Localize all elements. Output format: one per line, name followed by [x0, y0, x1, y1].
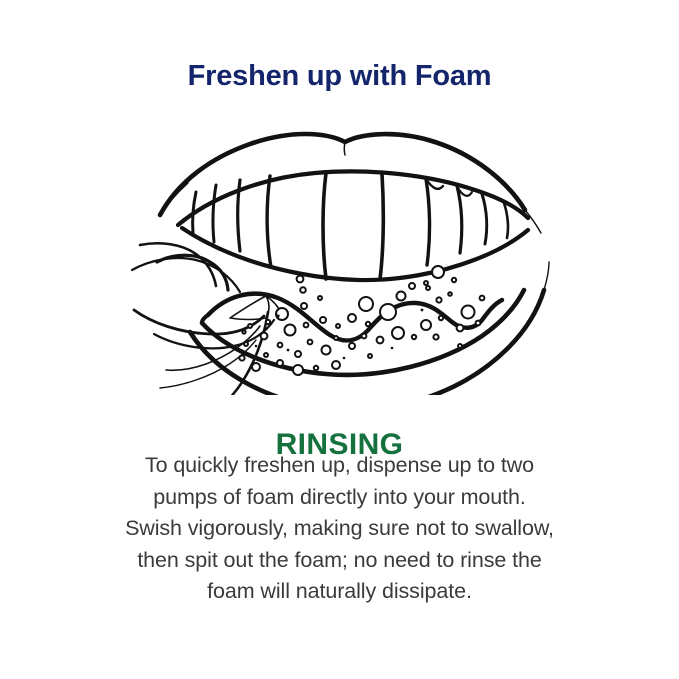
bubble: [285, 325, 296, 336]
bubble: [480, 296, 485, 301]
bubble: [392, 327, 404, 339]
bubble: [457, 325, 464, 332]
bubble-dot: [276, 314, 279, 317]
bubble: [248, 324, 252, 328]
instruction-line: Swish vigorously, making sure not to swa…: [60, 513, 619, 545]
tooth-divider-5-central: [323, 173, 326, 279]
bubble: [252, 363, 260, 371]
bubble: [426, 286, 430, 290]
lip-corner-outer: [140, 243, 216, 286]
tooth-divider-7: [426, 179, 430, 265]
bubble: [301, 303, 307, 309]
instruction-line: then spit out the foam; no need to rinse…: [60, 545, 619, 577]
bubble: [297, 276, 304, 283]
bubble: [332, 361, 340, 369]
bubble: [366, 322, 370, 326]
bubble: [300, 287, 306, 293]
bubble: [264, 353, 268, 357]
mouth-inner-left-edge: [202, 315, 208, 323]
bubble: [261, 333, 268, 340]
upper-lip-left-taper: [160, 183, 188, 215]
bubble: [242, 330, 245, 333]
tooth-divider-10: [504, 203, 508, 238]
bubble: [278, 343, 283, 348]
bubble: [349, 343, 355, 349]
instruction-paragraph: To quickly freshen up, dispense up to tw…: [60, 450, 619, 608]
upper-gum-line: [178, 171, 528, 225]
upper-teeth-arch: [182, 228, 528, 280]
bubble: [368, 354, 372, 358]
bubble-dot: [287, 349, 290, 352]
bubble: [458, 344, 462, 348]
bubble: [293, 365, 303, 375]
lip-corner-crease-1: [208, 312, 268, 395]
bubble-dot: [421, 309, 424, 312]
bubble: [334, 336, 338, 340]
bubble: [336, 324, 340, 328]
tooth-divider-6: [380, 174, 383, 279]
instruction-line: To quickly freshen up, dispense up to tw…: [60, 450, 619, 482]
bubble: [421, 320, 431, 330]
bubble: [266, 320, 270, 324]
tooth-divider-4: [267, 176, 271, 267]
tooth-divider-8: [457, 186, 462, 253]
tooth-divider-3: [238, 180, 240, 251]
bubble: [380, 304, 396, 320]
bubble: [452, 278, 456, 282]
instruction-card: Freshen up with Foam: [0, 0, 679, 679]
bubble: [377, 337, 384, 344]
bubble-dot: [255, 345, 258, 348]
bubble: [362, 334, 367, 339]
bubble: [439, 316, 443, 320]
instruction-line: pumps of foam directly into your mouth.: [60, 482, 619, 514]
bubble: [304, 323, 309, 328]
tooth-divider-9: [482, 194, 487, 244]
bubble: [320, 317, 326, 323]
bubble: [432, 266, 444, 278]
mouth-rinsing-foam-illustration: [130, 120, 550, 395]
bubble: [424, 281, 428, 285]
bubble: [397, 292, 406, 301]
bubble: [436, 297, 441, 302]
lip-corner-inner-bulge: [157, 255, 228, 290]
bubble: [244, 342, 248, 346]
bubble: [318, 296, 322, 300]
mouth-illustration-svg: [130, 120, 550, 395]
bubble: [359, 297, 373, 311]
bubble: [409, 283, 415, 289]
tooth-divider-2: [213, 185, 216, 242]
instruction-line: foam will naturally dissipate.: [60, 576, 619, 608]
bubble: [276, 308, 288, 320]
bubble: [412, 335, 416, 339]
bubble: [308, 340, 313, 345]
cupids-bow-notch: [344, 142, 345, 155]
lower-lip-right-taper: [544, 262, 549, 290]
bubble: [462, 306, 475, 319]
bubble: [448, 292, 452, 296]
bubble-dot: [343, 357, 346, 360]
bubble: [433, 334, 438, 339]
bubble: [239, 355, 244, 360]
bubble: [322, 346, 331, 355]
bubble: [314, 366, 318, 370]
bubble: [277, 360, 283, 366]
bubble-dot: [391, 347, 394, 350]
bubble: [476, 321, 481, 326]
bubble: [348, 314, 356, 322]
page-title: Freshen up with Foam: [0, 57, 679, 95]
bubble: [295, 351, 301, 357]
